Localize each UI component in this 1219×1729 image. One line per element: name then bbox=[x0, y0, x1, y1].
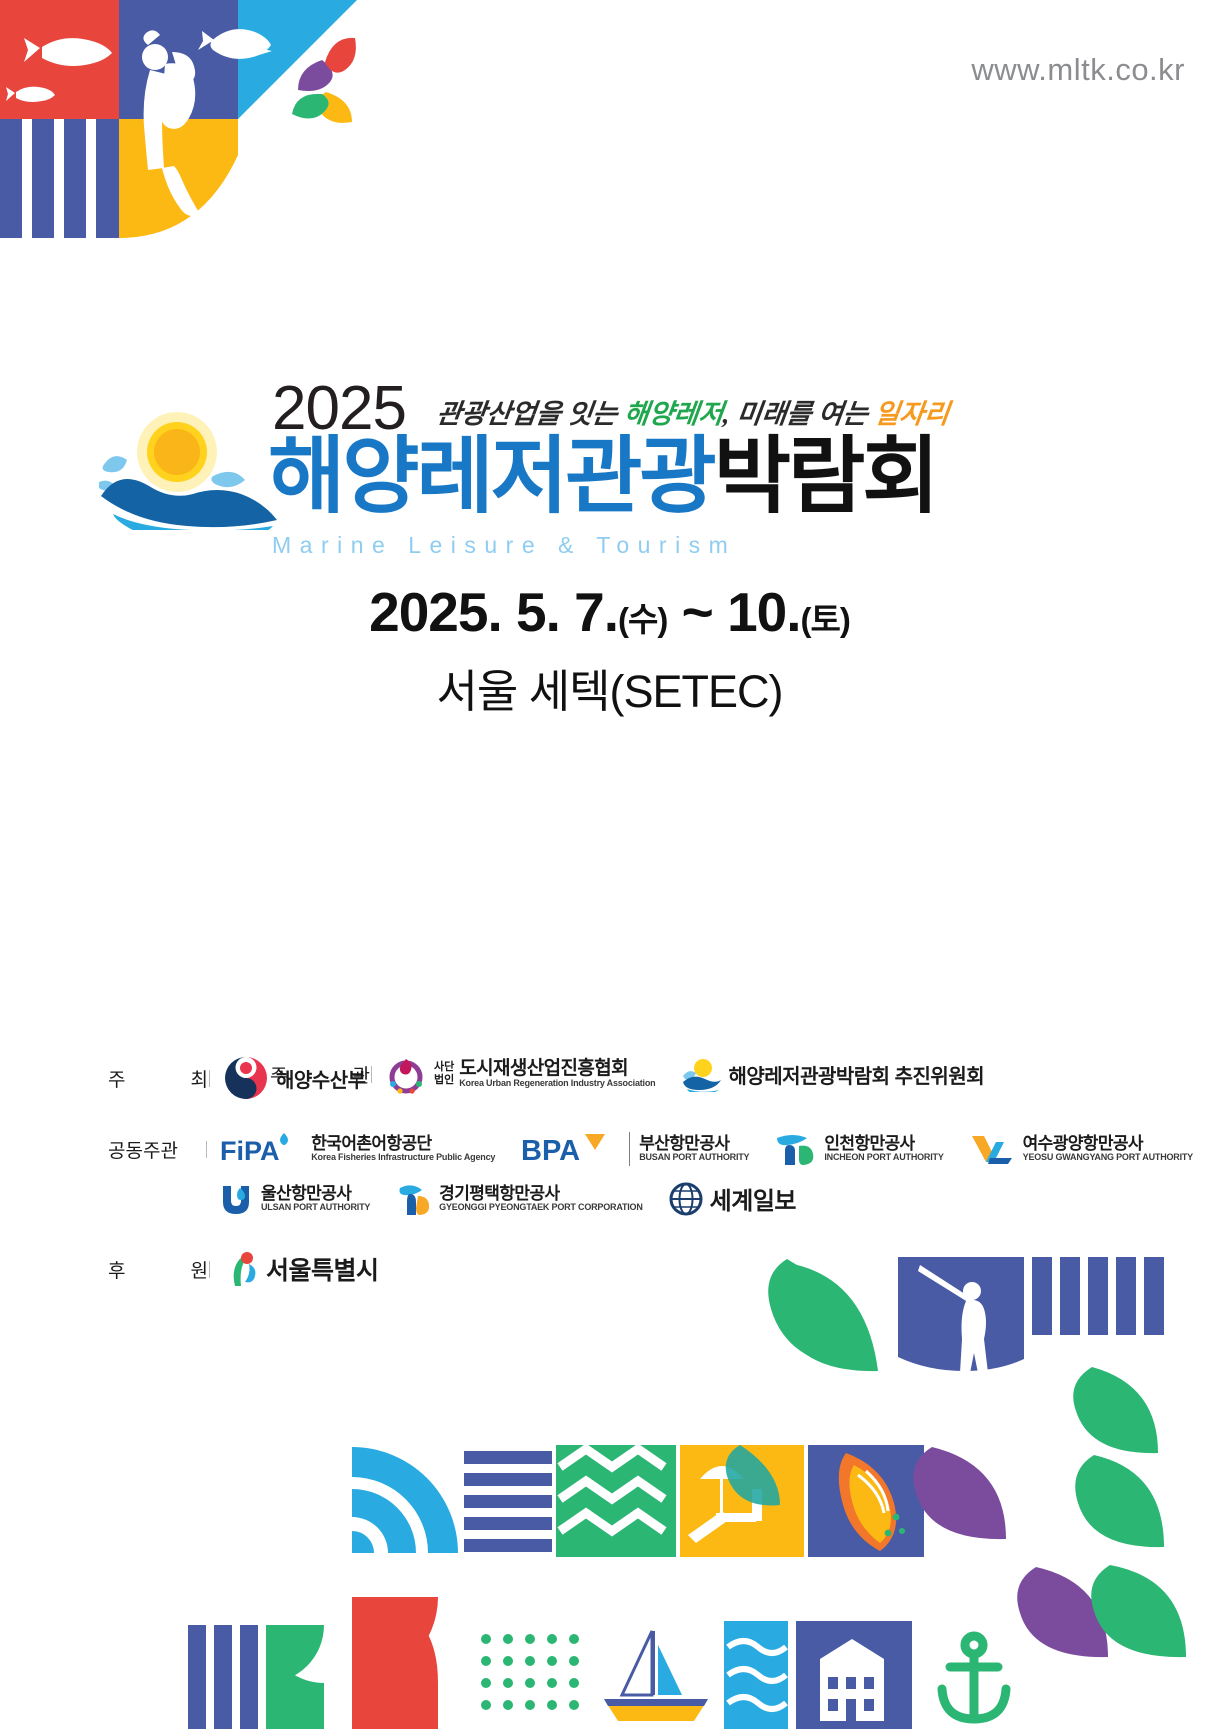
org-segye-ilbo: 세계일보 bbox=[669, 1181, 796, 1216]
event-tagline: 관광산업을 잇는 해양레저, 미래를 여는 일자리 bbox=[435, 392, 952, 431]
event-date-separator: ~ bbox=[667, 581, 727, 643]
org-ygpa: 여수광양항만공사 YEOSU GWANGYANG PORT AUTHORITY bbox=[970, 1132, 1193, 1166]
fipa-logo: FiPA bbox=[220, 1131, 304, 1167]
org-name-mltk-committee: 해양레저관광박람회 추진위원회 bbox=[728, 1060, 984, 1089]
event-title-blue: 해양레저관광 bbox=[268, 429, 714, 523]
org-name-ipa-en: INCHEON PORT AUTHORITY bbox=[824, 1153, 943, 1162]
label-divider bbox=[209, 1070, 210, 1087]
org-name-bpa-en: BUSAN PORT AUTHORITY bbox=[639, 1153, 749, 1162]
org-kuria: 사단 법인 도시재생산업진흥협회 Korea Urban Regeneratio… bbox=[385, 1053, 655, 1095]
org-name-kuria-ko: 도시재생산업진흥협회 bbox=[459, 1059, 655, 1079]
org-name-upa-en: ULSAN PORT AUTHORITY bbox=[261, 1203, 370, 1212]
svg-text:BPA: BPA bbox=[521, 1135, 580, 1166]
marine-mosaic-top-left bbox=[0, 0, 400, 250]
event-date-start: 2025. 5. 7. bbox=[369, 581, 618, 643]
event-title: 해양레저관광박람회 bbox=[268, 434, 937, 518]
event-latin-subtitle: Marine Leisure & Tourism bbox=[272, 532, 736, 559]
kuria-circle-emblem bbox=[385, 1053, 427, 1095]
sponsor-label-coorganizer: 공동주관 bbox=[108, 1136, 205, 1163]
label-char: 최 bbox=[191, 1065, 208, 1092]
label-divider bbox=[206, 1141, 207, 1158]
org-name-ygpa-ko: 여수광양항만공사 bbox=[1023, 1135, 1193, 1153]
label-divider bbox=[371, 1066, 372, 1083]
org-prefix-kuria: 사단 법인 bbox=[434, 1061, 454, 1086]
org-name-upa-ko: 울산항만공사 bbox=[261, 1185, 370, 1203]
tagline-part-4: 일자리 bbox=[873, 399, 951, 429]
org-ipa: 인천항만공사 INCHEON PORT AUTHORITY bbox=[775, 1132, 943, 1166]
org-name-fipa-en: Korea Fisheries Infrastructure Public Ag… bbox=[311, 1153, 495, 1162]
segye-ilbo-globe-logo bbox=[669, 1182, 703, 1216]
upa-logo bbox=[218, 1182, 254, 1216]
ygpa-logo bbox=[970, 1132, 1016, 1166]
sun-and-wave-logo-mark bbox=[95, 410, 280, 530]
org-name-ygpa-en: YEOSU GWANGYANG PORT AUTHORITY bbox=[1023, 1153, 1193, 1162]
org-mltk-committee: 해양레저관광박람회 추진위원회 bbox=[681, 1056, 984, 1092]
org-name-kuria-en: Korea Urban Regeneration Industry Associ… bbox=[459, 1079, 655, 1088]
tagline-part-1: 관광산업을 잇는 bbox=[435, 399, 626, 429]
mltk-sun-wave-emblem bbox=[681, 1056, 721, 1092]
logo-separator bbox=[629, 1132, 630, 1166]
org-name-gppc-ko: 경기평택항만공사 bbox=[439, 1185, 642, 1203]
label-char: 관 bbox=[353, 1061, 370, 1088]
sponsor-row-coorganizer: 공동주관 FiPA 한국어촌어항공단 Korea Fisheries Infra… bbox=[0, 1131, 1219, 1167]
org-upa: 울산항만공사 ULSAN PORT AUTHORITY bbox=[218, 1182, 370, 1216]
website-url: www.mltk.co.kr bbox=[971, 52, 1185, 88]
marine-mosaic-bottom bbox=[0, 1249, 1219, 1729]
event-title-black: 박람회 bbox=[714, 429, 937, 523]
korea-government-taegeuk-emblem bbox=[223, 1055, 269, 1101]
org-name-ipa-ko: 인천항만공사 bbox=[824, 1135, 943, 1153]
org-gppc: 경기평택항만공사 GYEONGGI PYEONGTAEK PORT CORPOR… bbox=[396, 1182, 642, 1216]
gppc-logo bbox=[396, 1182, 432, 1216]
sponsor-label-host: 주 최 bbox=[108, 1065, 208, 1092]
org-name-segye-ilbo: 세계일보 bbox=[710, 1181, 796, 1216]
org-fipa: FiPA 한국어촌어항공단 Korea Fisheries Infrastruc… bbox=[220, 1131, 495, 1167]
org-name-fipa-ko: 한국어촌어항공단 bbox=[311, 1135, 495, 1153]
label-char: 주 bbox=[108, 1065, 125, 1092]
tagline-part-3: , 미래를 여는 bbox=[722, 399, 877, 429]
label-char: 주 bbox=[270, 1061, 287, 1088]
tagline-part-2: 해양레저 bbox=[622, 399, 725, 429]
event-weekday-start: (수) bbox=[618, 601, 667, 638]
event-date-end: 10. bbox=[727, 581, 800, 643]
sponsor-row-coorganizer-2: 울산항만공사 ULSAN PORT AUTHORITY 경기평택항만공사 GYE… bbox=[0, 1181, 1219, 1216]
sponsor-label-organizer: 주 관 bbox=[270, 1061, 370, 1088]
org-bpa: BPA 부산항만공사 BUSAN PORT AUTHORITY bbox=[521, 1132, 749, 1166]
ipa-logo bbox=[775, 1132, 817, 1166]
event-logo-block: 2025 관광산업을 잇는 해양레저, 미래를 여는 일자리 해양레저관광박람회… bbox=[0, 360, 1219, 560]
event-date: 2025. 5. 7.(수) ~ 10.(토) bbox=[0, 580, 1219, 644]
sponsor-row-organizer: 주 관 사단 법인 도시재생산업진흥협회 Korea Urban Regener… bbox=[270, 1053, 1219, 1095]
org-name-bpa-ko: 부산항만공사 bbox=[639, 1135, 749, 1153]
svg-text:FiPA: FiPA bbox=[220, 1136, 280, 1166]
event-weekday-end: (토) bbox=[801, 601, 850, 638]
event-venue: 서울 세텍(SETEC) bbox=[0, 655, 1219, 720]
bpa-logo: BPA bbox=[521, 1132, 613, 1166]
org-name-gppc-en: GYEONGGI PYEONGTAEK PORT CORPORATION bbox=[439, 1203, 642, 1212]
